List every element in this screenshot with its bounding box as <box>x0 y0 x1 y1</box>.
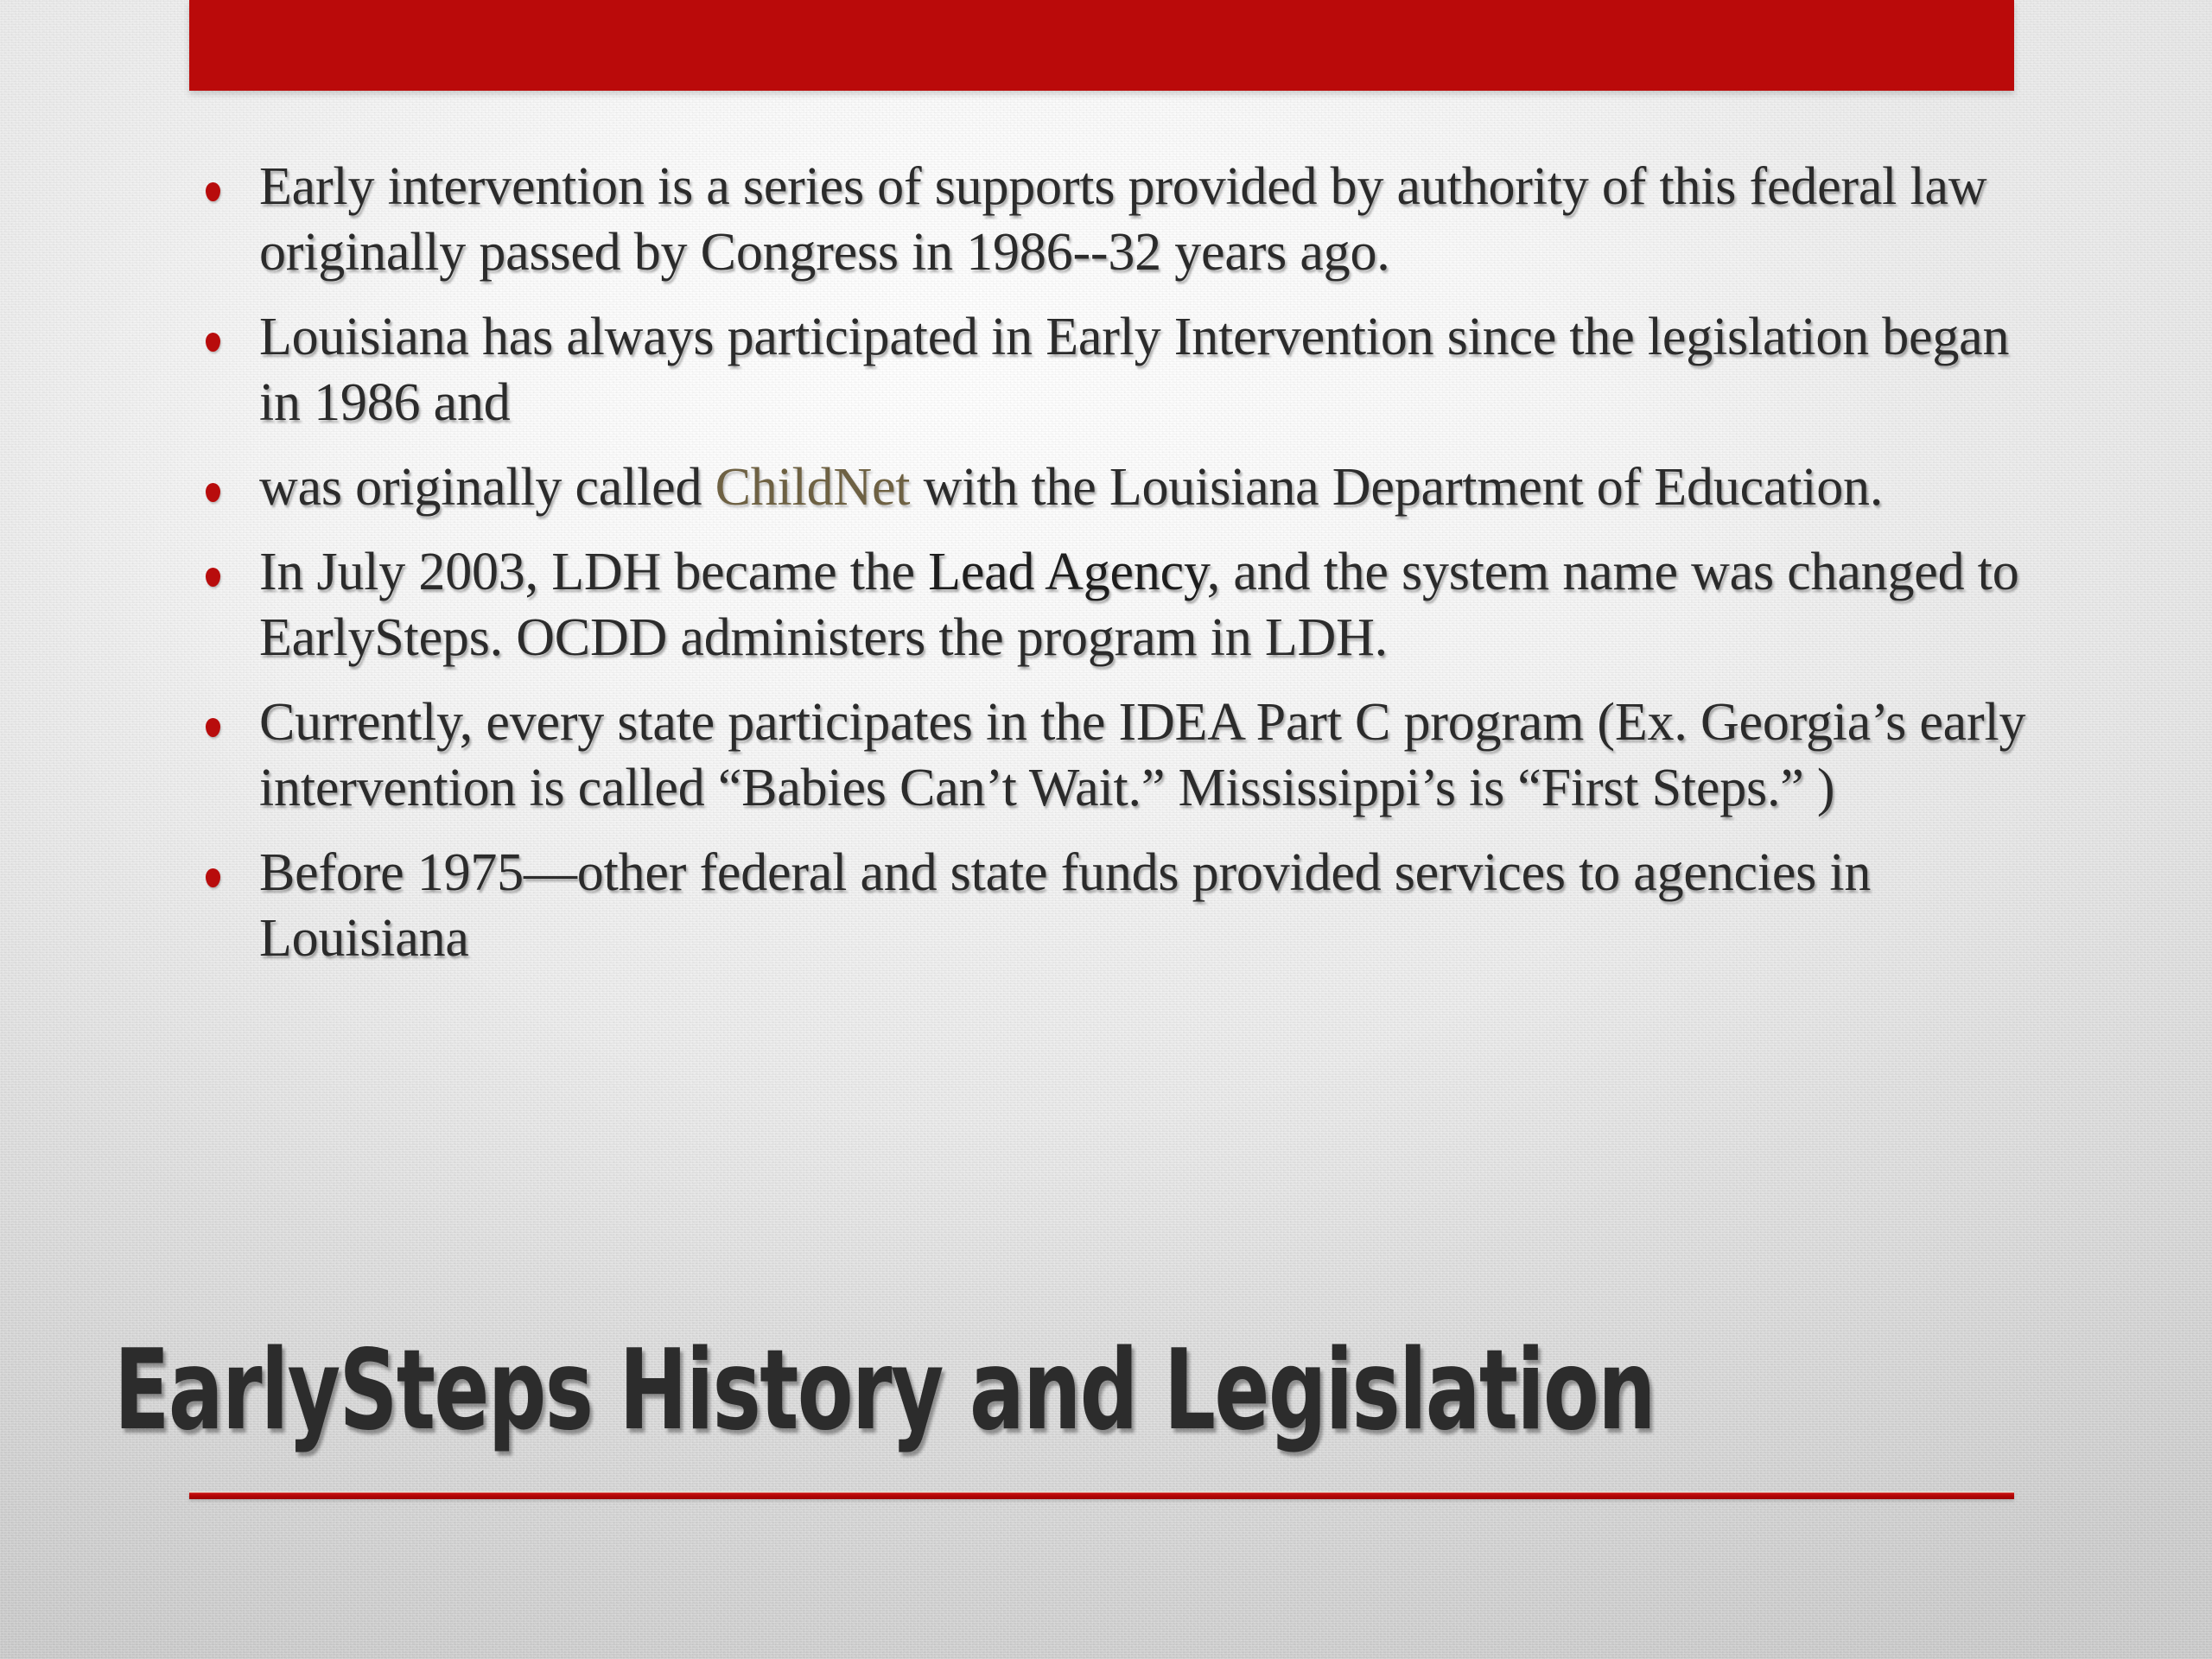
bullet-dot-icon <box>206 718 220 737</box>
bullet-list-item: Before 1975—other federal and state fund… <box>206 840 2037 971</box>
bullet-dot-icon <box>206 182 220 201</box>
bullet-marker <box>206 840 259 892</box>
bullet-marker <box>206 690 259 741</box>
bullet-text: Louisiana has always participated in Ear… <box>259 304 2037 435</box>
bullet-text: In July 2003, LDH became the Lead Agency… <box>259 539 2037 671</box>
top-red-banner <box>189 0 2014 91</box>
bullet-list-item: In July 2003, LDH became the Lead Agency… <box>206 539 2037 671</box>
bullet-text-segment: Early intervention is a series of suppor… <box>259 157 1986 282</box>
bullet-list-item: Currently, every state participates in t… <box>206 690 2037 821</box>
bullet-text-emphasis: Lead Agency <box>928 543 1207 601</box>
slide-body-content: Early intervention is a series of suppor… <box>206 154 2037 990</box>
bullet-marker <box>206 539 259 591</box>
bullet-text-segment: In July 2003, LDH became the <box>259 543 928 601</box>
bullet-text-segment: with the Louisiana Department of Educati… <box>910 458 1883 517</box>
bullet-list-item: Louisiana has always participated in Ear… <box>206 304 2037 435</box>
page-title: EarlySteps History and Legislation <box>114 1335 1730 1447</box>
bullet-marker <box>206 304 259 356</box>
bullet-text-segment: Currently, every state participates in t… <box>259 693 2025 817</box>
bullet-text: Before 1975—other federal and state fund… <box>259 840 2037 971</box>
bullet-text-segment: Before 1975—other federal and state fund… <box>259 843 1871 968</box>
bullet-marker <box>206 154 259 206</box>
bullet-text-segment: Louisiana has always participated in Ear… <box>259 308 2009 432</box>
bullet-text: Currently, every state participates in t… <box>259 690 2037 821</box>
bullet-text: Early intervention is a series of suppor… <box>259 154 2037 285</box>
bullet-dot-icon <box>206 568 220 587</box>
bullet-dot-icon <box>206 333 220 352</box>
bullet-marker <box>206 454 259 506</box>
bullet-text-segment: was originally called <box>259 458 715 517</box>
slide-title-block: EarlySteps History and Legislation <box>114 1335 2084 1447</box>
bullet-dot-icon <box>206 483 220 502</box>
bullet-dot-icon <box>206 868 220 887</box>
bullet-text-accent-gold: ChildNet <box>715 458 911 517</box>
bullet-text: was originally called ChildNet with the … <box>259 454 2037 520</box>
title-underline-rule <box>189 1491 2014 1499</box>
bullet-list-item: was originally called ChildNet with the … <box>206 454 2037 520</box>
bullet-list-item: Early intervention is a series of suppor… <box>206 154 2037 285</box>
presentation-slide: Early intervention is a series of suppor… <box>0 0 2212 1659</box>
